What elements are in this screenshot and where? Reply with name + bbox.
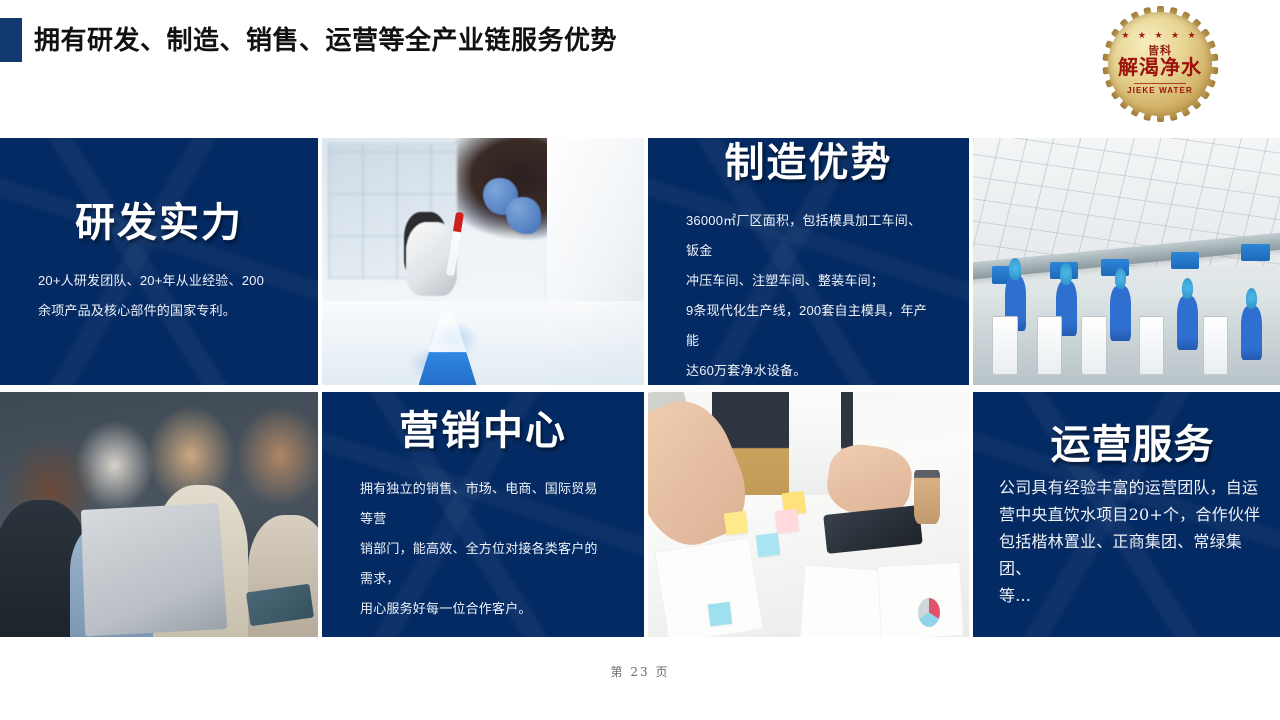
title-accent-bar (0, 18, 22, 62)
card-marketing-center[interactable]: 营销中心 拥有独立的销售、市场、电商、国际贸易等营 销部门，能高效、全方位对接各… (322, 392, 644, 637)
pie-chart-icon (918, 598, 940, 627)
card-body-line: 9条现代化生产线，200套自主模具，年产能 (686, 296, 931, 356)
water-purifier-unit (1139, 316, 1165, 375)
logo-stars: ★ ★ ★ ★ ★ (1108, 31, 1212, 40)
factory-worker (1241, 306, 1262, 360)
water-purifier-unit (1203, 316, 1229, 375)
card-heading: 制造优势 (686, 138, 931, 188)
card-heading: 营销中心 (360, 406, 606, 456)
card-manufacturing-advantage[interactable]: 制造优势 36000㎡厂区面积，包括模具加工车间、钣金 冲压车间、注塑车间、整装… (648, 138, 969, 385)
page-number: 第 23 页 (0, 663, 1280, 680)
card-body-line: 销部门，能高效、全方位对接各类客户的需求， (360, 534, 606, 594)
card-body-line: 拥有独立的销售、市场、电商、国际贸易等营 (360, 474, 606, 534)
water-purifier-unit (1081, 316, 1107, 375)
advantage-card-grid: 研发实力 20+人研发团队、20+年从业经验、200 余项产品及核心部件的国家专… (0, 138, 1280, 637)
card-body-line: 营中央直饮水项目20+个，合作伙伴 (999, 501, 1266, 528)
logo-cap-disc: ★ ★ ★ ★ ★ 皆科 解渴净水 JIEKE WATER (1108, 12, 1212, 116)
card-body: 20+人研发团队、20+年从业经验、200 余项产品及核心部件的国家专利。 (38, 266, 280, 326)
card-heading: 运营服务 (999, 420, 1266, 470)
card-body-line: 用心服务好每一位合作客户。 (360, 594, 606, 624)
business-team-meeting-photo (0, 392, 318, 637)
laptop-icon (81, 503, 227, 637)
station-sign (1171, 252, 1200, 269)
sticky-note (708, 601, 733, 626)
factory-assembly-line-photo (973, 138, 1280, 385)
station-sign (1241, 244, 1270, 261)
card-body-line: 20+人研发团队、20+年从业经验、200 (38, 266, 280, 296)
sticky-note (775, 508, 800, 533)
laboratory-researcher-photo (322, 138, 644, 385)
planning-sticky-notes-photo (648, 392, 969, 637)
card-rd-strength[interactable]: 研发实力 20+人研发团队、20+年从业经验、200 余项产品及核心部件的国家专… (0, 138, 318, 385)
card-body-line: 36000㎡厂区面积，包括模具加工车间、钣金 (686, 206, 931, 266)
page-title: 拥有研发、制造、销售、运营等全产业链服务优势 (34, 21, 617, 59)
card-body-line: 公司具有经验丰富的运营团队，自运 (999, 474, 1266, 501)
blue-glove (506, 197, 541, 234)
logo-brand-en: JIEKE WATER (1108, 86, 1212, 95)
document-sheet (877, 561, 964, 637)
slide-header: 拥有研发、制造、销售、运营等全产业链服务优势 ★ ★ ★ ★ ★ 皆科 解渴净水… (0, 0, 1280, 130)
factory-worker (1110, 286, 1131, 340)
card-body-line: 包括楷林置业、正商集团、常绿集团、 (999, 528, 1266, 582)
tablet-icon (823, 505, 923, 554)
sticky-note (724, 511, 749, 536)
card-body: 公司具有经验丰富的运营团队，自运 营中央直饮水项目20+个，合作伙伴 包括楷林置… (999, 474, 1266, 609)
coffee-cup-icon (914, 470, 940, 524)
lab-bench (322, 301, 644, 385)
card-body: 拥有独立的销售、市场、电商、国际贸易等营 销部门，能高效、全方位对接各类客户的需… (360, 474, 606, 624)
card-body-line: 等... (999, 582, 1266, 609)
card-body-line: 冲压车间、注塑车间、整装车间； (686, 266, 931, 296)
factory-worker (1177, 296, 1198, 350)
card-body-line: 余项产品及核心部件的国家专利。 (38, 296, 280, 326)
card-operation-service[interactable]: 运营服务 公司具有经验丰富的运营团队，自运 营中央直饮水项目20+个，合作伙伴 … (973, 392, 1280, 637)
logo-brand-main: 解渴净水 (1108, 56, 1212, 78)
sticky-note (756, 533, 781, 558)
card-heading: 研发实力 (38, 198, 280, 248)
water-purifier-unit (992, 316, 1018, 375)
card-body-line: 达60万套净水设备。 (686, 356, 931, 386)
company-logo: ★ ★ ★ ★ ★ 皆科 解渴净水 JIEKE WATER (1108, 12, 1212, 116)
logo-divider (1134, 83, 1186, 84)
card-body: 36000㎡厂区面积，包括模具加工车间、钣金 冲压车间、注塑车间、整装车间； 9… (686, 206, 931, 386)
water-purifier-unit (1037, 316, 1063, 375)
